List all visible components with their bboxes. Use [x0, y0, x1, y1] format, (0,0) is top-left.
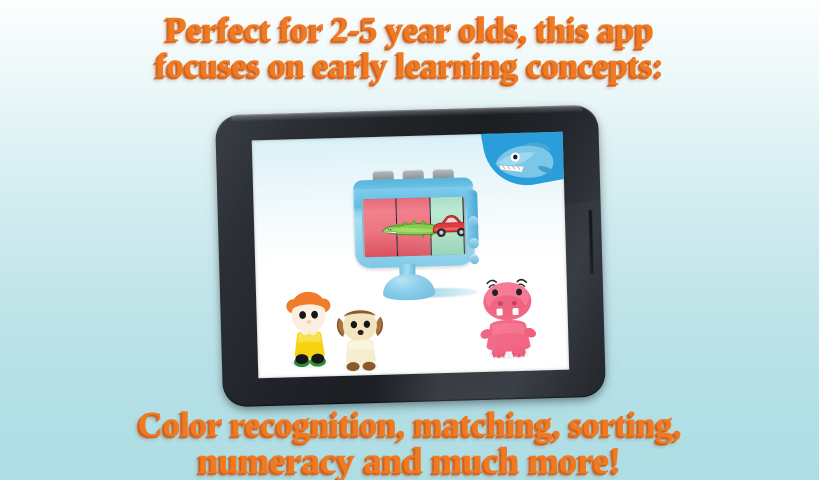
headline-line-1: Perfect for 2-5 year olds, this app — [0, 12, 819, 48]
footer-line-2: numeracy and much more! — [0, 443, 819, 480]
dog-character[interactable] — [334, 305, 386, 374]
footer-text: Color recognition, matching, sorting, nu… — [0, 407, 819, 480]
red-car-icon — [430, 212, 467, 239]
tablet-bezel — [215, 105, 606, 408]
tablet-screen[interactable] — [252, 132, 570, 379]
character-group — [252, 132, 570, 379]
girl-character[interactable] — [282, 288, 336, 373]
tablet-device — [215, 105, 606, 408]
headline-line-2: focuses on early learning concepts: — [0, 48, 819, 84]
speaker-slit — [589, 210, 594, 274]
footer-line-1: Color recognition, matching, sorting, — [0, 407, 819, 443]
bezel-top-highlight — [230, 105, 582, 122]
hippo-character[interactable] — [479, 273, 537, 363]
headline-text: Perfect for 2-5 year olds, this app focu… — [0, 12, 819, 83]
